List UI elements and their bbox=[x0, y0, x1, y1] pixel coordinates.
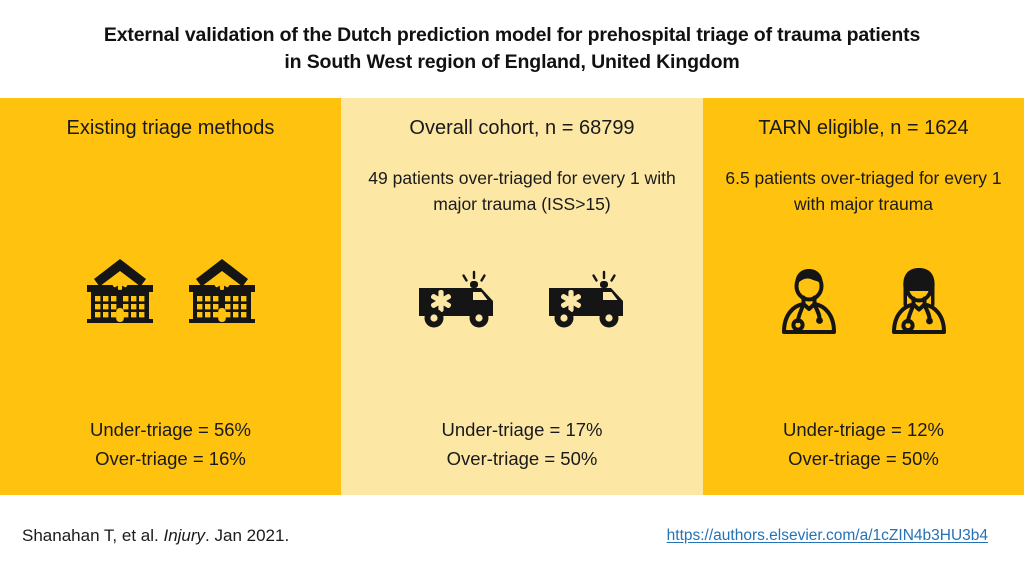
icon-row-doctors bbox=[703, 264, 1024, 336]
icon-row-ambulances bbox=[341, 270, 703, 332]
icon-row-hospitals bbox=[0, 256, 341, 326]
panel-band: Existing triage methods bbox=[0, 98, 1024, 495]
article-link[interactable]: https://authors.elsevier.com/a/1cZIN4b3H… bbox=[667, 527, 988, 545]
doctor-male-icon bbox=[776, 264, 842, 336]
citation-authors: Shanahan T, et al. bbox=[22, 526, 163, 545]
page-title-line-2: in South West region of England, United … bbox=[104, 49, 920, 76]
column-stats-overall: Under-triage = 17% Over-triage = 50% bbox=[341, 416, 703, 473]
citation-date: . Jan 2021. bbox=[205, 526, 289, 545]
column-heading-overall: Overall cohort, n = 68799 bbox=[341, 116, 703, 141]
citation: Shanahan T, et al. Injury. Jan 2021. bbox=[22, 526, 289, 546]
title-area: External validation of the Dutch predict… bbox=[0, 0, 1024, 98]
column-existing-triage-methods: Existing triage methods bbox=[0, 98, 341, 495]
ambulance-icon bbox=[415, 270, 499, 332]
column-overall-cohort: Overall cohort, n = 68799 49 patients ov… bbox=[341, 98, 703, 495]
hospital-icon bbox=[83, 256, 157, 326]
under-triage-value: Under-triage = 56% bbox=[0, 416, 341, 445]
under-triage-value: Under-triage = 17% bbox=[341, 416, 703, 445]
footer: Shanahan T, et al. Injury. Jan 2021. htt… bbox=[0, 495, 1024, 576]
doctor-female-icon bbox=[886, 264, 952, 336]
page-title-line-1: External validation of the Dutch predict… bbox=[104, 22, 920, 49]
over-triage-value: Over-triage = 50% bbox=[703, 445, 1024, 474]
over-triage-value: Over-triage = 16% bbox=[0, 445, 341, 474]
page-title: External validation of the Dutch predict… bbox=[104, 22, 920, 75]
over-triage-value: Over-triage = 50% bbox=[341, 445, 703, 474]
column-stats-existing: Under-triage = 56% Over-triage = 16% bbox=[0, 416, 341, 473]
column-subtext-tarn: 6.5 patients over-triaged for every 1 wi… bbox=[703, 165, 1024, 221]
column-subtext-overall: 49 patients over-triaged for every 1 wit… bbox=[341, 165, 703, 221]
ambulance-icon bbox=[545, 270, 629, 332]
hospital-icon bbox=[185, 256, 259, 326]
column-stats-tarn: Under-triage = 12% Over-triage = 50% bbox=[703, 416, 1024, 473]
citation-journal: Injury bbox=[163, 526, 205, 545]
column-heading-tarn: TARN eligible, n = 1624 bbox=[703, 116, 1024, 141]
under-triage-value: Under-triage = 12% bbox=[703, 416, 1024, 445]
column-tarn-eligible: TARN eligible, n = 1624 6.5 patients ove… bbox=[703, 98, 1024, 495]
column-heading-existing: Existing triage methods bbox=[0, 116, 341, 141]
